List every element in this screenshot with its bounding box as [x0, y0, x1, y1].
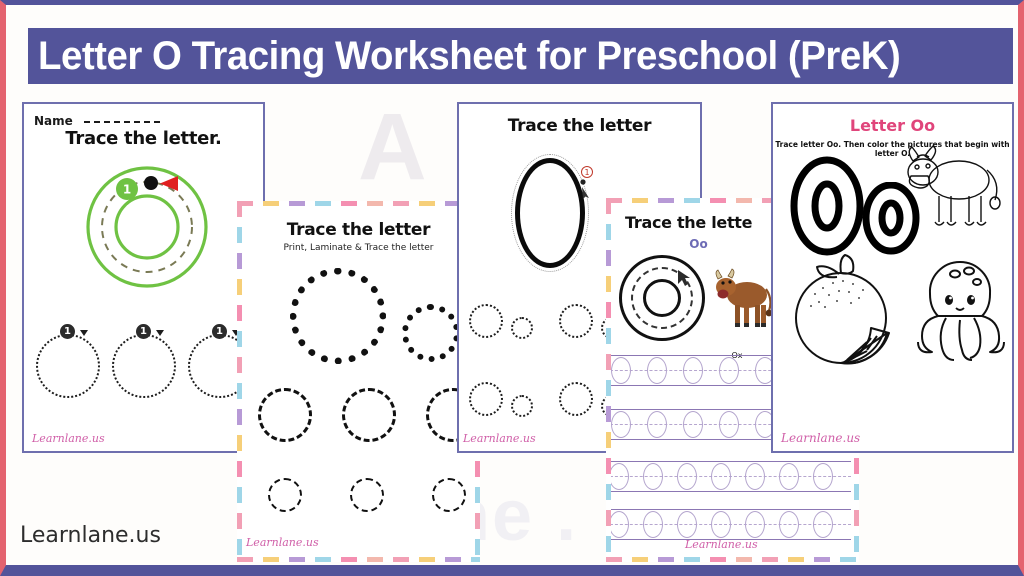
ox-outline-coloring-picture[interactable]	[901, 140, 1005, 244]
stroke-number-badge: 1	[212, 324, 227, 339]
name-field-label: Name	[34, 114, 73, 128]
dashed-letter-o-2[interactable]	[342, 388, 396, 442]
beaded-letter-o-large[interactable]	[290, 268, 386, 364]
rainbow-border-bottom	[237, 557, 480, 562]
dotted-letter-o-lower-1[interactable]	[511, 317, 533, 339]
dotted-letter-o	[36, 334, 100, 398]
dashed-letter-o-small-3[interactable]	[432, 478, 466, 512]
card3-heading: Trace the letter	[459, 116, 700, 136]
dotted-letter-o-upper-2[interactable]	[559, 304, 593, 338]
stroke-number-badge: 1	[60, 324, 75, 339]
tracing-line-row-1[interactable]	[611, 355, 791, 387]
card1-heading: Trace the letter.	[24, 128, 263, 149]
stroke-number-badge: 1	[581, 166, 593, 178]
svg-text:1: 1	[123, 183, 131, 197]
worksheet-card-5-content: Letter Oo Trace letter Oo. Then color th…	[773, 104, 1012, 451]
card4-letter-pair: Oo	[611, 237, 786, 251]
worksheet-card-5[interactable]: Letter Oo Trace letter Oo. Then color th…	[771, 102, 1014, 453]
stroke-direction-cursor-icon	[677, 269, 691, 287]
dashed-letter-o-1[interactable]	[258, 388, 312, 442]
page-root: A B learnlane ane . Letter O Tracing Wor…	[0, 0, 1024, 576]
card1-practice-row: 1 1 1	[32, 322, 262, 410]
worksheet-card-2-content: Trace the letter Print, Laminate & Trace…	[242, 206, 475, 557]
dotted-letter-o	[112, 334, 176, 398]
dashed-letter-o-small-1[interactable]	[268, 478, 302, 512]
octopus-outline-coloring-picture[interactable]	[913, 256, 1007, 374]
beaded-letter-o-medium[interactable]	[402, 304, 460, 362]
card2-heading: Trace the letter	[242, 220, 475, 240]
worksheet-card-1-content: Name Trace the letter. 1	[24, 104, 263, 451]
tracing-line-row-2[interactable]	[611, 409, 791, 441]
traced-letter-o-ring[interactable]	[619, 255, 705, 341]
ox-illustration	[711, 257, 773, 343]
worksheet-card-2[interactable]: Trace the letter Print, Laminate & Trace…	[237, 201, 480, 562]
name-field-rule	[84, 121, 160, 123]
tracing-line-row-4[interactable]	[611, 509, 851, 541]
green-guide-letter-o: 1	[84, 164, 210, 290]
letter-o-solid-outline	[515, 158, 585, 268]
tracing-line-row-3[interactable]	[611, 461, 851, 493]
card5-heading: Letter Oo	[773, 116, 1012, 135]
site-label: Learnlane.us	[20, 523, 161, 548]
practice-circle-2[interactable]: 1	[108, 322, 180, 400]
page-title: Letter O Tracing Worksheet for Preschool…	[38, 34, 900, 79]
dotted-letter-o-upper-1[interactable]	[469, 304, 503, 338]
stroke-direction-arrow-icon	[156, 330, 164, 336]
card5-watermark: Learnlane.us	[781, 431, 860, 445]
dotted-letter-o-lower-3[interactable]	[511, 395, 533, 417]
page-title-banner: Letter O Tracing Worksheet for Preschool…	[28, 28, 1013, 84]
practice-circle-1[interactable]: 1	[32, 322, 104, 400]
stroke-direction-cursor-icon	[577, 178, 593, 200]
card3-watermark: Learnlane.us	[463, 432, 536, 445]
dotted-letter-o-upper-5[interactable]	[559, 382, 593, 416]
card2-watermark: Learnlane.us	[246, 536, 319, 549]
card4-watermark: Learnlane.us	[685, 538, 758, 551]
card1-watermark: Learnlane.us	[32, 432, 105, 445]
stroke-direction-arrow-icon	[80, 330, 88, 336]
card2-subheading: Print, Laminate & Trace the letter	[242, 243, 475, 253]
dashed-letter-o-small-2[interactable]	[350, 478, 384, 512]
traced-letter-o-outline[interactable]	[511, 154, 589, 272]
rainbow-border-bottom	[606, 557, 859, 562]
dotted-letter-o-upper-4[interactable]	[469, 382, 503, 416]
worksheet-card-1[interactable]: Name Trace the letter. 1	[22, 102, 265, 453]
orange-outline-coloring-picture[interactable]	[789, 250, 913, 374]
stroke-number-badge: 1	[136, 324, 151, 339]
